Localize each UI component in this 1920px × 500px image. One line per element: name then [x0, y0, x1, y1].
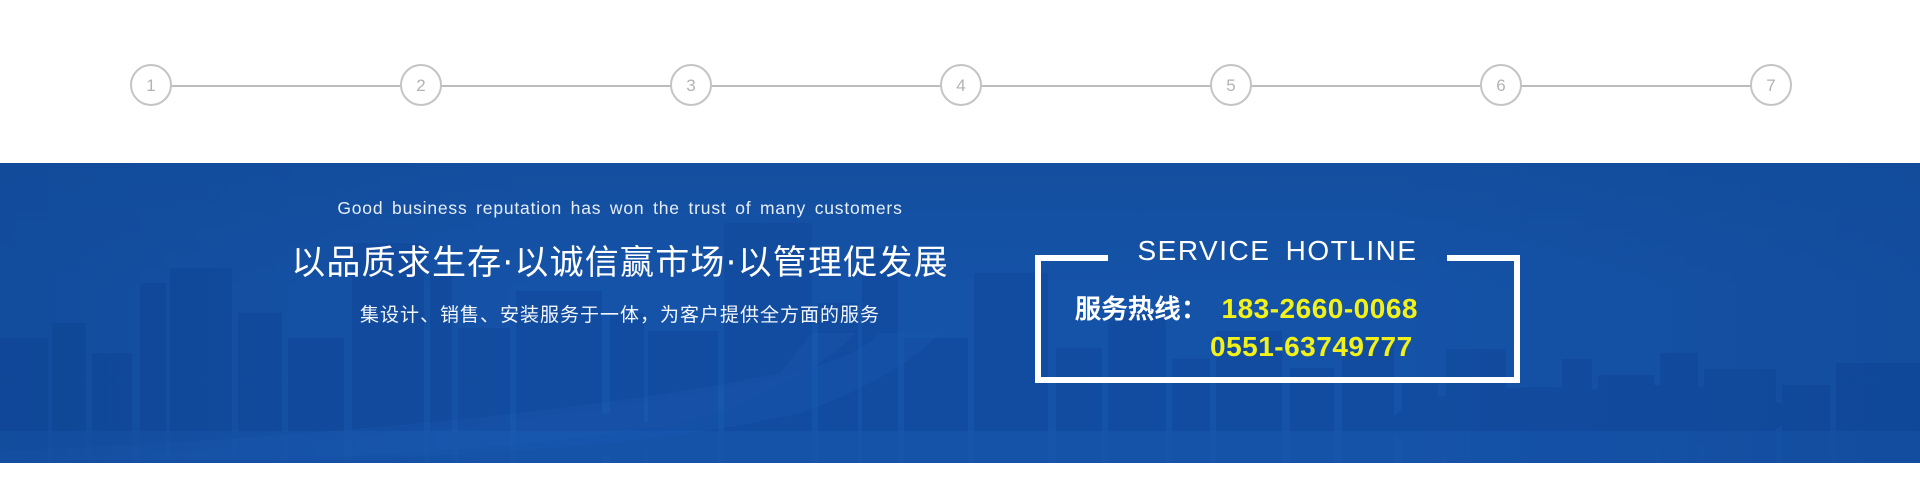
step-number-label: 7 — [1766, 77, 1775, 94]
hotline-border-left — [1035, 255, 1041, 383]
step-connector-line — [1502, 85, 1772, 87]
hotline-phone-primary[interactable]: 183-2660-0068 — [1222, 293, 1418, 325]
step-node-2[interactable]: 2 — [400, 64, 442, 106]
step-node-5[interactable]: 5 — [1210, 64, 1252, 106]
step-connector-line — [1232, 85, 1502, 87]
step-node-3[interactable]: 3 — [670, 64, 712, 106]
step-number-label: 4 — [956, 77, 965, 94]
slogan-block: Good business reputation has won the tru… — [280, 198, 960, 327]
hotline-phone-secondary[interactable]: 0551-63749777 — [1210, 331, 1413, 362]
hotline-secondary-row: 0551-63749777 — [1210, 331, 1413, 363]
step-progress-bar: 1 2 3 4 5 6 7 — [0, 0, 1920, 163]
service-hotline-box: SERVICE HOTLINE 服务热线： 183-2660-0068 0551… — [1035, 255, 1520, 383]
road-curve-background — [0, 333, 1920, 463]
page-root: 1 2 3 4 5 6 7 — [0, 0, 1920, 500]
hotline-border-right — [1514, 255, 1520, 383]
step-connector-line — [422, 85, 692, 87]
slogan-english-tagline: Good business reputation has won the tru… — [280, 198, 960, 219]
step-number-label: 1 — [146, 77, 155, 94]
hotline-title: SERVICE HOTLINE — [1035, 235, 1520, 267]
slogan-main-headline: 以品质求生存·以诚信赢市场·以管理促发展 — [280, 235, 960, 284]
step-number-label: 2 — [416, 77, 425, 94]
promo-banner: Good business reputation has won the tru… — [0, 163, 1920, 463]
step-connector-line — [152, 85, 422, 87]
step-connector-line — [962, 85, 1232, 87]
step-node-4[interactable]: 4 — [940, 64, 982, 106]
hotline-border-bottom — [1035, 377, 1520, 383]
step-number-label: 6 — [1496, 77, 1505, 94]
hotline-label: 服务热线： — [1075, 289, 1208, 326]
hotline-primary-row: 服务热线： 183-2660-0068 — [1075, 289, 1418, 326]
step-node-7[interactable]: 7 — [1750, 64, 1792, 106]
step-number-label: 5 — [1226, 77, 1235, 94]
step-node-6[interactable]: 6 — [1480, 64, 1522, 106]
step-number-label: 3 — [686, 77, 695, 94]
step-node-1[interactable]: 1 — [130, 64, 172, 106]
slogan-sub-headline: 集设计、销售、安装服务于一体，为客户提供全方面的服务 — [280, 300, 960, 327]
step-connector-line — [692, 85, 962, 87]
